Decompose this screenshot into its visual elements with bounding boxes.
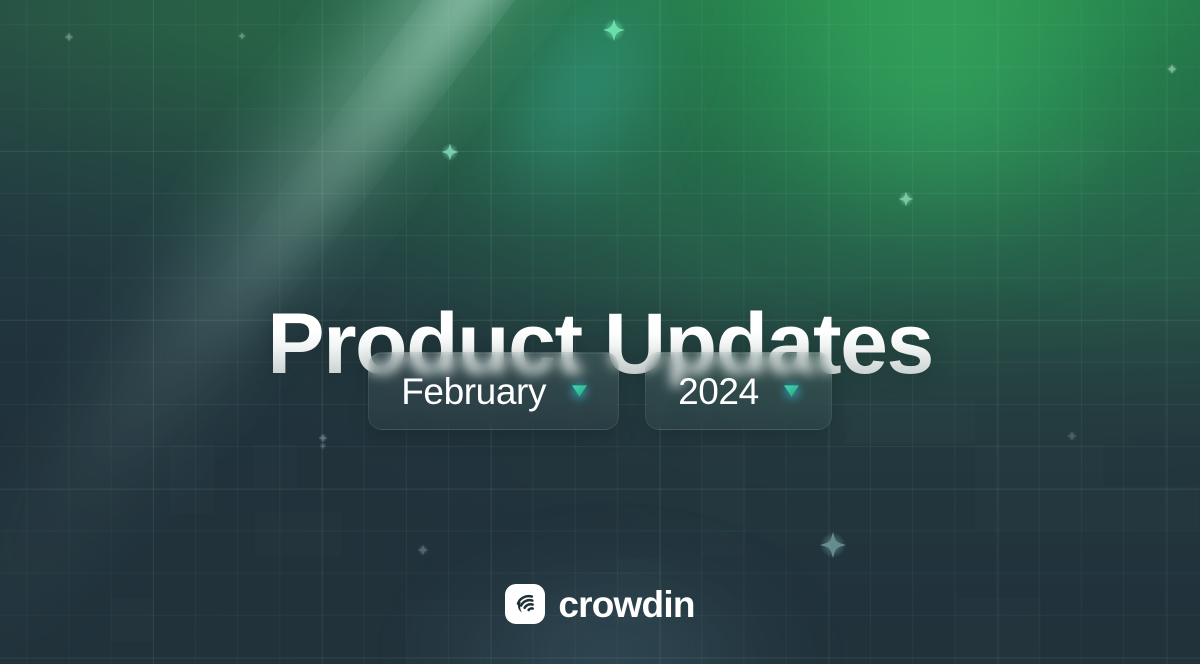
product-updates-banner: Product Updates February <box>0 0 1200 664</box>
year-selector[interactable]: 2024 <box>645 352 832 430</box>
year-selector-label: 2024 <box>678 373 759 410</box>
chevron-down-icon[interactable] <box>775 374 809 408</box>
chevron-down-icon[interactable] <box>562 374 596 408</box>
date-selectors: February <box>0 352 1200 430</box>
banner-content: Product Updates February <box>0 0 1200 664</box>
brand-wordmark: crowdin <box>558 586 694 623</box>
crowdin-logo-icon <box>505 584 545 624</box>
brand-logo: crowdin <box>0 584 1200 624</box>
month-selector-label: February <box>401 373 546 410</box>
month-selector[interactable]: February <box>368 352 619 430</box>
